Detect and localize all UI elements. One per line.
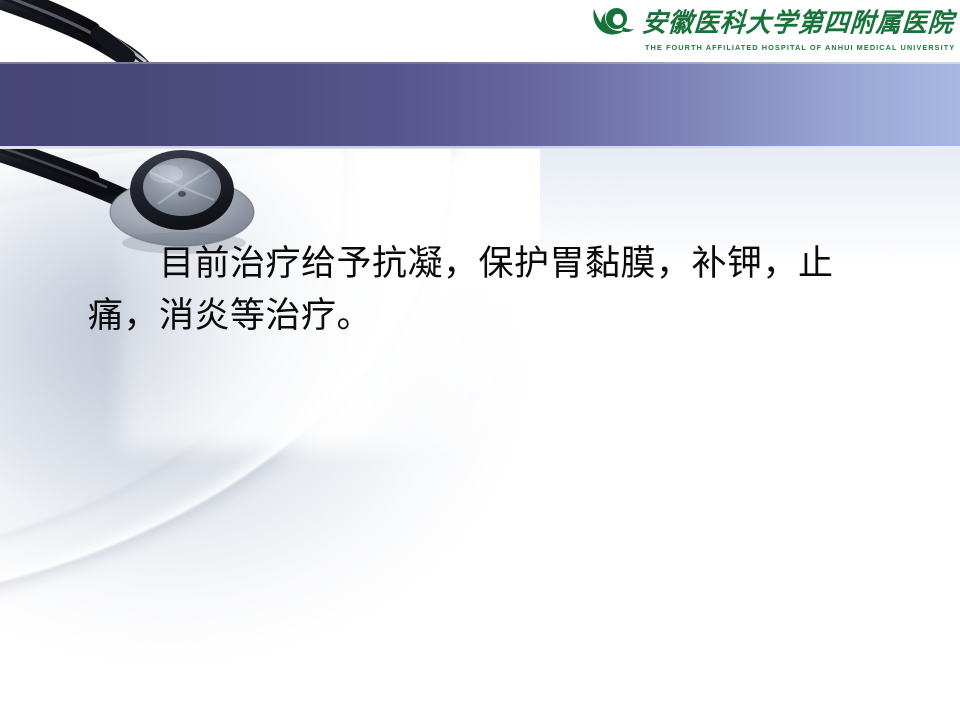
header-band-top-edge <box>0 62 960 64</box>
hospital-name-english: THE FOURTH AFFILIATED HOSPITAL OF ANHUI … <box>645 43 955 52</box>
hospital-logo: 安徽医科大学第四附属医院 THE FOURTH AFFILIATED HOSPI… <box>636 4 954 58</box>
header-band-bottom-edge <box>0 146 960 149</box>
slide-body-text: 目前治疗给予抗凝，保护胃黏膜，补钾，止痛，消炎等治疗。 <box>88 238 888 342</box>
logo-row: 安徽医科大学第四附属医院 <box>589 4 954 40</box>
swan-heart-logo-icon <box>589 5 635 39</box>
header-gradient-band <box>0 62 960 148</box>
slide-canvas: 安徽医科大学第四附属医院 THE FOURTH AFFILIATED HOSPI… <box>0 0 960 720</box>
hospital-name-chinese: 安徽医科大学第四附属医院 <box>641 9 955 35</box>
